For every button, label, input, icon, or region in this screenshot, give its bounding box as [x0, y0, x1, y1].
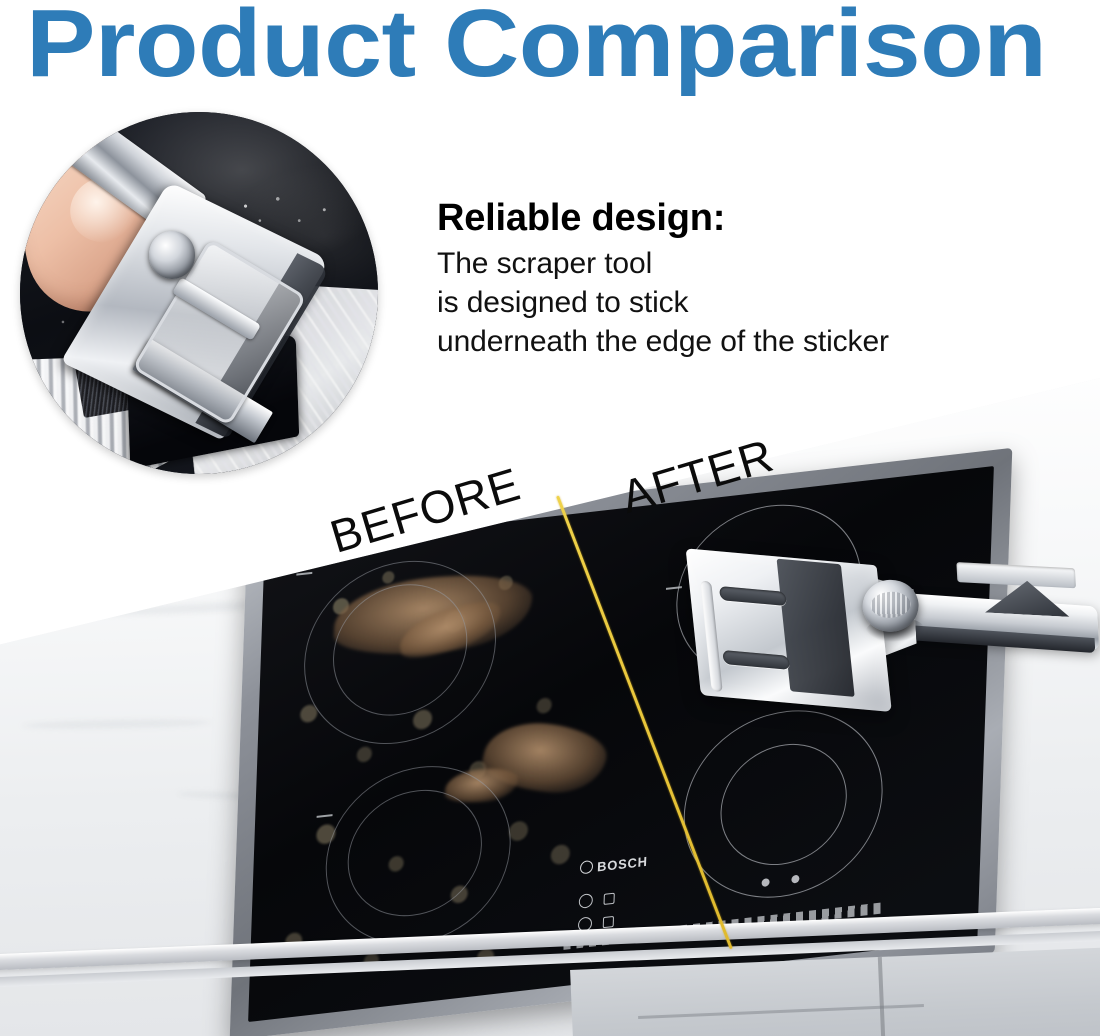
product-comparison-image: Product Comparison Reliable design: The …: [0, 0, 1100, 1036]
page-title: Product Comparison: [26, 0, 1100, 94]
copy-line-2: is designed to stick: [437, 283, 1067, 322]
indicator-dot-icon: [791, 874, 799, 883]
copy-block: Reliable design: The scraper tool is des…: [437, 196, 1067, 361]
scraper-handle-slot: [956, 562, 1076, 588]
cooktop-control-buttons[interactable]: [579, 891, 615, 909]
copy-line-3: underneath the edge of the sticker: [437, 322, 1067, 361]
copy-heading: Reliable design:: [437, 196, 1067, 240]
indicator-dot-icon: [761, 878, 769, 887]
boost-button-icon[interactable]: [603, 916, 614, 928]
scraper-tool: [684, 538, 1092, 729]
copy-line-1: The scraper tool: [437, 244, 1067, 283]
bosch-mark-icon: [580, 860, 593, 875]
scraper-closeup-inset: [20, 112, 378, 474]
timer-button-icon[interactable]: [604, 892, 615, 904]
inset-scraper-thumbscrew: [149, 231, 196, 278]
power-button-icon[interactable]: [579, 893, 593, 909]
